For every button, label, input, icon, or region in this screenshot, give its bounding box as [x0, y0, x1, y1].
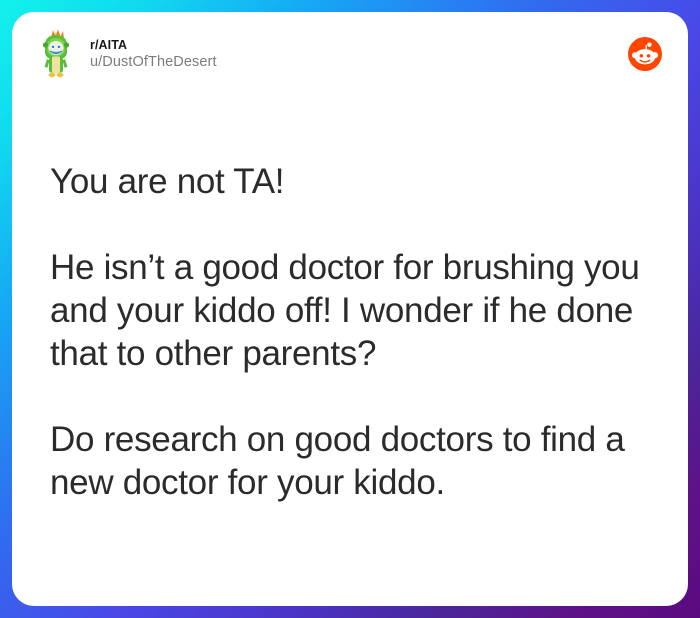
post-paragraph-1: You are not TA!	[50, 160, 648, 203]
snoo-dinosaur-costume-avatar[interactable]	[36, 29, 76, 79]
post-identity: r/AITA u/DustOfTheDesert	[90, 38, 217, 70]
username[interactable]: u/DustOfTheDesert	[90, 54, 217, 70]
reddit-logo-icon	[628, 37, 662, 71]
reddit-post-card: r/AITA u/DustOfTheDesert Y	[12, 12, 688, 606]
post-header: r/AITA u/DustOfTheDesert	[12, 12, 688, 96]
post-paragraph-2: He isn’t a good doctor for brushing you …	[50, 246, 648, 375]
subreddit-name[interactable]: r/AITA	[90, 38, 217, 52]
post-paragraph-3: Do research on good doctors to find a ne…	[50, 418, 648, 504]
post-body: You are not TA! He isn’t a good doctor f…	[50, 160, 648, 504]
